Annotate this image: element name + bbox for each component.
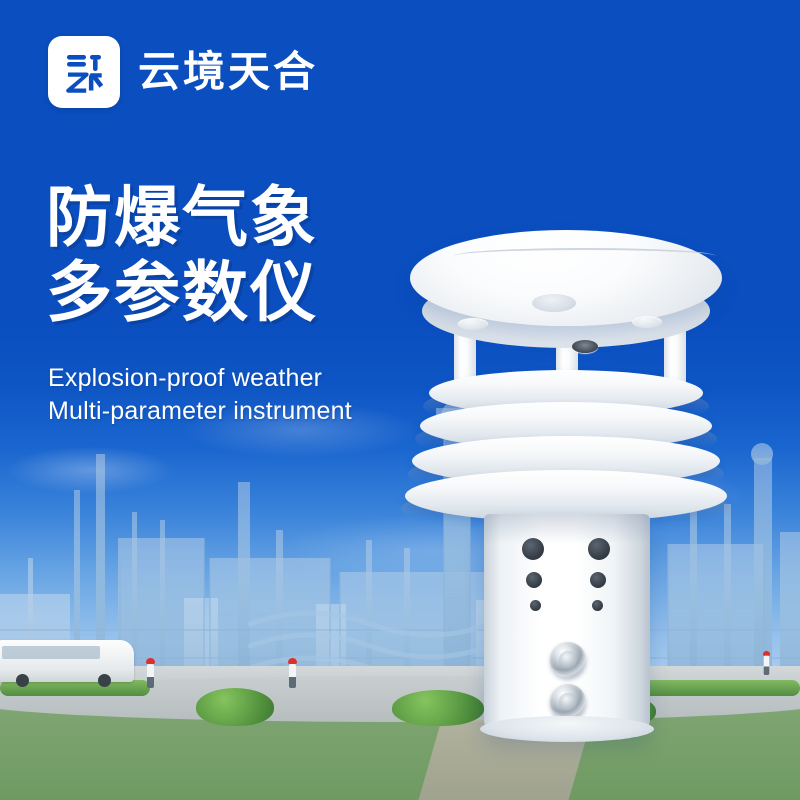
- sensor-vent-hole: [592, 600, 603, 611]
- ultrasonic-transducer-pad: [632, 316, 662, 328]
- ultrasonic-transducer-pad: [532, 294, 576, 312]
- background-worker: [146, 658, 155, 688]
- ultrasonic-wind-sensor-disc: [410, 230, 722, 326]
- sensor-vent-hole: [590, 572, 606, 588]
- body-bottom-rim: [480, 716, 654, 742]
- metal-cable-connector: [550, 642, 586, 678]
- worker-body: [289, 664, 296, 688]
- louvered-radiation-shield: [400, 370, 732, 530]
- brand-logo: 云境天合: [48, 36, 318, 108]
- sensor-vent-hole: [522, 538, 544, 560]
- sensor-body-housing: [484, 514, 650, 732]
- product-banner: 云境天合 防爆气象 多参数仪 Explosion-proof weather M…: [0, 0, 800, 800]
- body-top-shading: [484, 514, 650, 544]
- product-image: [392, 222, 772, 742]
- brand-name: 云境天合: [138, 51, 318, 93]
- sensor-vent-hole: [526, 572, 542, 588]
- disc-seam: [454, 248, 716, 264]
- background-bush: [196, 688, 274, 726]
- worker-body: [147, 664, 154, 688]
- disc-center-port: [572, 340, 598, 353]
- sensor-vent-hole: [530, 600, 541, 611]
- background-bus: [0, 640, 134, 682]
- background-worker: [288, 658, 297, 688]
- metal-cable-connector: [550, 684, 586, 720]
- zr-cloud-logo-icon: [48, 36, 120, 108]
- ultrasonic-transducer-pad: [458, 318, 488, 330]
- bus-wheel: [16, 674, 29, 687]
- bus-wheel: [98, 674, 111, 687]
- sensor-vent-hole: [588, 538, 610, 560]
